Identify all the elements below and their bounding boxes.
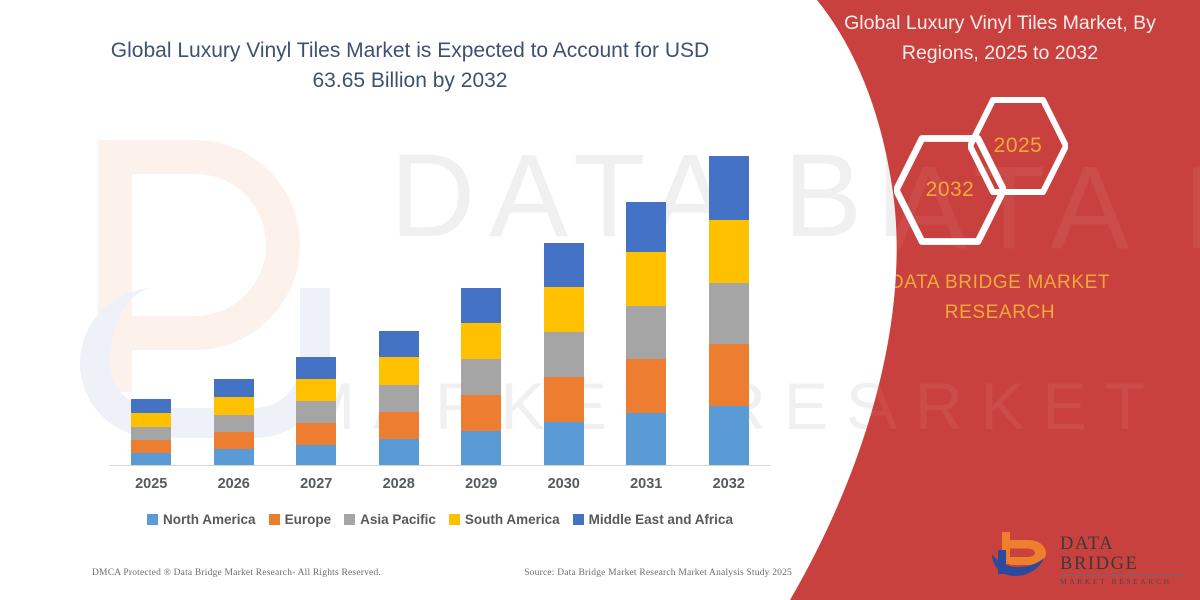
bar-segment xyxy=(131,413,171,427)
bar-column xyxy=(193,130,275,466)
bar-segment xyxy=(296,445,336,467)
footer: DMCA Protected ® Data Bridge Market Rese… xyxy=(92,568,792,578)
legend-item[interactable]: Europe xyxy=(269,512,332,527)
x-tick-2032: 2032 xyxy=(688,476,770,492)
bar-segment xyxy=(296,401,336,423)
bar-segment xyxy=(379,331,419,357)
brand-line-1: DATA BRIDGE MARKET xyxy=(800,268,1200,298)
legend-item[interactable]: South America xyxy=(449,512,560,527)
bar-segment xyxy=(214,379,254,397)
stacked-bar xyxy=(296,357,336,466)
bar-segment xyxy=(709,344,749,406)
bar-segment xyxy=(461,395,501,431)
right-red-panel: DATA BRIDGE MARKET RESEARCH Global Luxur… xyxy=(780,0,1200,600)
x-tick-2025: 2025 xyxy=(110,476,192,492)
bar-column xyxy=(523,130,605,466)
chart-legend: North AmericaEuropeAsia PacificSouth Ame… xyxy=(110,512,770,527)
legend-swatch-icon xyxy=(344,514,355,525)
chart-plot-area xyxy=(110,130,770,466)
dbmr-logo-mark-icon xyxy=(988,530,1054,580)
bar-segment xyxy=(379,439,419,466)
bar-segment xyxy=(461,288,501,323)
legend-swatch-icon xyxy=(147,514,158,525)
legend-item[interactable]: Middle East and Africa xyxy=(573,512,733,527)
bar-segment xyxy=(379,385,419,412)
dbmr-logo-words: DATA BRIDGE MARKET RESEARCH xyxy=(1060,534,1184,586)
panel-title: Global Luxury Vinyl Tiles Market, By Reg… xyxy=(815,8,1185,68)
bar-segment xyxy=(214,397,254,415)
dbmr-logo-rule xyxy=(1060,575,1184,576)
legend-swatch-icon xyxy=(269,514,280,525)
hexagon-2025-label: 2025 xyxy=(968,96,1068,196)
bar-column xyxy=(275,130,357,466)
footer-source: Source: Data Bridge Market Research Mark… xyxy=(524,568,792,578)
legend-swatch-icon xyxy=(449,514,460,525)
bar-segment xyxy=(131,399,171,413)
legend-label: Europe xyxy=(285,512,332,527)
x-tick-2030: 2030 xyxy=(523,476,605,492)
bar-column xyxy=(110,130,192,466)
hexagon-group: 2032 2025 xyxy=(780,96,1200,246)
x-axis-tick-labels: 20252026202720282029203020312032 xyxy=(110,472,770,496)
brand-line-2: RESEARCH xyxy=(800,298,1200,328)
stacked-bar xyxy=(544,243,584,466)
x-tick-2028: 2028 xyxy=(358,476,440,492)
legend-label: Middle East and Africa xyxy=(589,512,733,527)
legend-item[interactable]: North America xyxy=(147,512,256,527)
bar-segment xyxy=(379,357,419,385)
legend-label: North America xyxy=(163,512,256,527)
dbmr-logo-sub: MARKET RESEARCH xyxy=(1060,577,1184,586)
x-tick-2026: 2026 xyxy=(193,476,275,492)
bar-segment xyxy=(544,287,584,332)
bar-segment xyxy=(544,332,584,377)
bar-segment xyxy=(709,406,749,466)
x-tick-2027: 2027 xyxy=(275,476,357,492)
x-tick-2029: 2029 xyxy=(440,476,522,492)
legend-item[interactable]: Asia Pacific xyxy=(344,512,436,527)
dbmr-logo: DATA BRIDGE MARKET RESEARCH xyxy=(988,528,1184,584)
bar-segment xyxy=(709,220,749,283)
stacked-bar xyxy=(379,331,419,466)
bar-column xyxy=(440,130,522,466)
bar-segment xyxy=(214,449,254,466)
stacked-bar xyxy=(214,379,254,466)
bar-segment xyxy=(544,377,584,422)
page-title: Global Luxury Vinyl Tiles Market is Expe… xyxy=(90,36,730,96)
bar-segment xyxy=(461,431,501,467)
bar-segment xyxy=(544,422,584,467)
bar-segment xyxy=(709,156,749,220)
bar-segment xyxy=(626,413,666,467)
bar-segment xyxy=(214,415,254,432)
stacked-bar xyxy=(131,399,171,466)
hexagon-2025: 2025 xyxy=(968,96,1068,196)
x-axis-line xyxy=(110,465,770,466)
stacked-bar xyxy=(626,202,666,466)
bar-segment xyxy=(709,283,749,344)
bar-column xyxy=(358,130,440,466)
bar-segment xyxy=(461,359,501,395)
bar-column xyxy=(688,130,770,466)
bar-group xyxy=(110,130,770,466)
bar-segment xyxy=(626,252,666,306)
brand-name: DATA BRIDGE MARKET RESEARCH xyxy=(800,268,1200,328)
stacked-bar xyxy=(461,288,501,466)
legend-swatch-icon xyxy=(573,514,584,525)
bar-segment xyxy=(379,412,419,440)
infographic-root: DATA BRIDGE MARKET RESEARCH Global Luxur… xyxy=(0,0,1200,600)
bar-segment xyxy=(296,357,336,379)
x-tick-2031: 2031 xyxy=(605,476,687,492)
footer-copyright: DMCA Protected ® Data Bridge Market Rese… xyxy=(92,568,381,578)
dbmr-logo-main: DATA BRIDGE xyxy=(1060,534,1184,574)
bar-segment xyxy=(131,440,171,454)
bar-segment xyxy=(626,202,666,252)
bar-segment xyxy=(296,423,336,445)
legend-label: South America xyxy=(465,512,560,527)
bar-segment xyxy=(461,323,501,359)
bar-segment xyxy=(296,379,336,401)
bar-segment xyxy=(131,427,171,440)
stacked-bar xyxy=(709,156,749,466)
bar-column xyxy=(605,130,687,466)
bar-segment xyxy=(626,306,666,359)
legend-label: Asia Pacific xyxy=(360,512,436,527)
bar-segment xyxy=(544,243,584,287)
panel-watermark-secondary: MARKET RESEARCH xyxy=(780,368,1200,444)
bar-segment xyxy=(626,359,666,413)
bar-segment xyxy=(214,432,254,450)
